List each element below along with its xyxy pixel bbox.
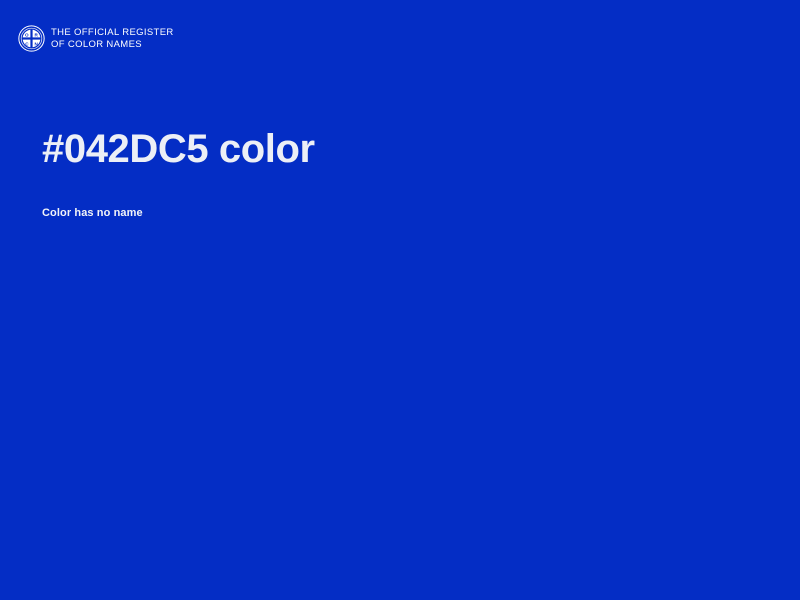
color-page: O R C N THE OFFICIAL REGISTER OF COLOR N… xyxy=(0,0,800,600)
color-detail-block: #042DC5 color Color has no name xyxy=(42,126,742,220)
color-name-status: Color has no name xyxy=(42,173,742,220)
brand-wordmark: THE OFFICIAL REGISTER OF COLOR NAMES xyxy=(51,27,174,49)
brand-wordmark-line-1: THE OFFICIAL REGISTER xyxy=(51,27,174,38)
brand-wordmark-line-2: OF COLOR NAMES xyxy=(51,39,174,50)
page-title: #042DC5 color xyxy=(42,126,742,173)
svg-text:O: O xyxy=(25,33,29,38)
register-seal-icon: O R C N xyxy=(18,25,45,52)
brand-home-link[interactable]: O R C N THE OFFICIAL REGISTER OF COLOR N… xyxy=(18,25,174,52)
